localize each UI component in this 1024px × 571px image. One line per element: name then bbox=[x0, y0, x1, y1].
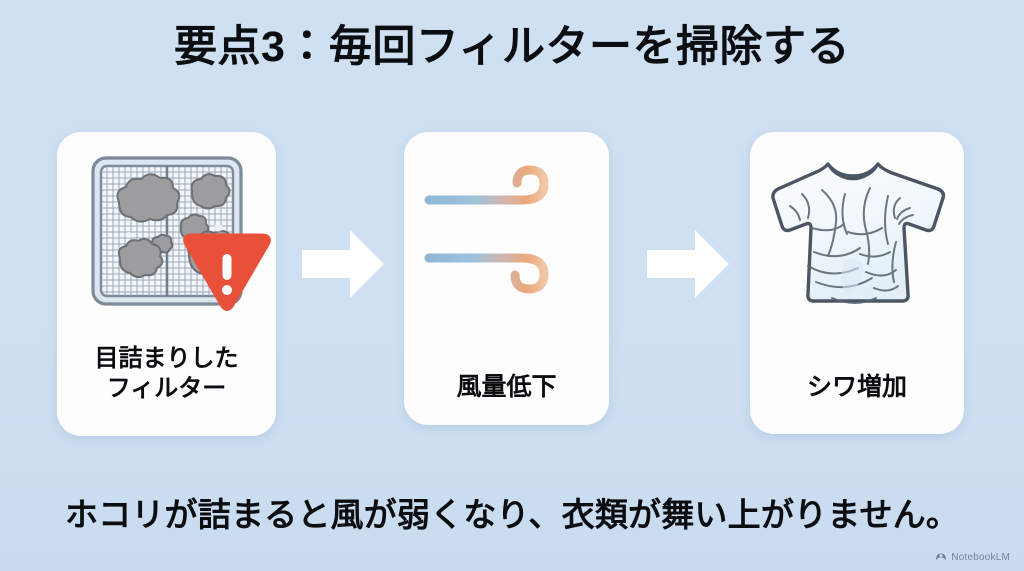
arrow-right-icon bbox=[645, 228, 731, 300]
clogged-filter-icon bbox=[57, 132, 276, 328]
watermark-label: NotebookLM bbox=[951, 552, 1010, 563]
arrow-right-1 bbox=[300, 228, 386, 300]
slide-canvas: 要点3：毎回フィルターを掃除する bbox=[0, 0, 1024, 571]
card-label-clogged-filter: 目詰まりした フィルター bbox=[57, 344, 276, 404]
wrinkled-tshirt-icon bbox=[750, 132, 964, 328]
airflow-art bbox=[404, 132, 609, 328]
slide-caption: ホコリが詰まると風が弱くなり、衣類が舞い上がりません。 bbox=[0, 488, 1024, 536]
wind-airflow-icon bbox=[404, 132, 609, 328]
arrow-right-2 bbox=[645, 228, 731, 300]
card-label-airflow-drop: 風量低下 bbox=[404, 372, 609, 404]
clogged-filter-art bbox=[57, 132, 276, 328]
arrow-right-icon bbox=[300, 228, 386, 300]
card-wrinkle-increase[interactable]: シワ増加 bbox=[750, 132, 964, 434]
page-title: 要点3：毎回フィルターを掃除する bbox=[0, 22, 1024, 73]
wrinkled-tshirt-art bbox=[750, 132, 964, 328]
card-row: 目詰まりした フィルター bbox=[0, 128, 1024, 440]
notebooklm-icon bbox=[935, 551, 947, 563]
card-airflow-drop[interactable]: 風量低下 bbox=[404, 132, 609, 425]
watermark: NotebookLM bbox=[935, 551, 1010, 563]
card-clogged-filter[interactable]: 目詰まりした フィルター bbox=[57, 132, 276, 436]
card-label-wrinkle-increase: シワ増加 bbox=[750, 372, 964, 404]
